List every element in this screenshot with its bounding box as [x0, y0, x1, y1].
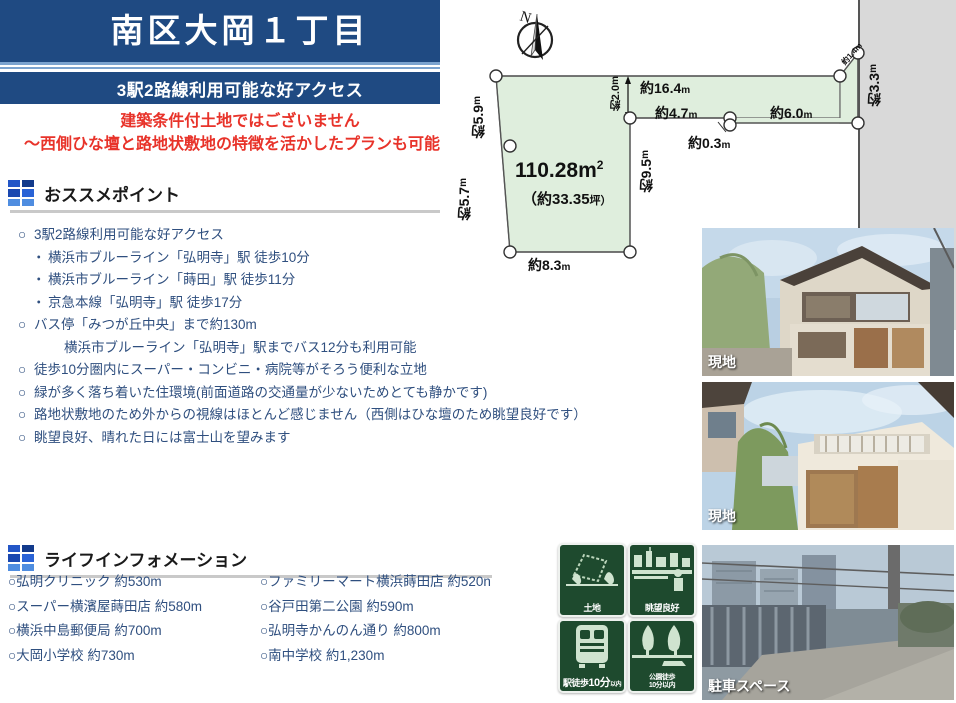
recommend-item: 横浜市ブルーライン「弘明寺」駅までバス12分も利用可能 [18, 341, 658, 355]
recommend-item: ○路地状敷地のため外からの視線はほとんど感じません（西側はひな壇のため眺望良好で… [18, 408, 658, 422]
plot-area-tsubo: （約33.35坪） [522, 188, 612, 209]
header-subtitle: 3駅2路線利用可能な好アクセス [0, 76, 480, 101]
badge-label: 土地 [560, 601, 624, 614]
dim-mid-right: 約6.0m [770, 103, 812, 123]
grid-squares-icon-2 [8, 545, 34, 571]
recommend-item-text: バス停「みつが丘中央」まで約130m [34, 317, 257, 332]
dim-right-inner: 約9.5m [636, 150, 656, 192]
view-icon [630, 545, 694, 593]
recommend-item-text: 徒歩10分圏内にスーパー・コンビニ・病院等がそろう便利な立地 [34, 362, 427, 377]
dim-notch-vertical: 約2.0m [608, 76, 624, 111]
life-section-title: ライフインフォメーション [44, 546, 247, 571]
recommend-item-text: 3駅2路線利用可能な好アクセス [34, 227, 224, 242]
bullet-marker: ・ [32, 296, 48, 310]
badge-station-walk: 駅徒歩10分以内 [558, 619, 626, 693]
photo-site-2: 現地 [702, 382, 954, 530]
train-icon [560, 621, 624, 669]
life-info-item: ○弘明クリニック 約530m [8, 575, 202, 589]
bullet-marker: ○ [18, 431, 34, 445]
dim-top-long: 約16.4m [640, 78, 690, 98]
photo-parking: 駐車スペース [702, 545, 954, 700]
badge-view: 眺望良好 [628, 543, 696, 617]
badge-land: 土地 [558, 543, 626, 617]
compass-icon: N [518, 9, 552, 60]
header-title-bar: 南区大岡１丁目 [0, 0, 480, 62]
life-info-item: ○谷戸田第二公園 約590m [260, 600, 491, 614]
page-title: 南区大岡１丁目 [0, 4, 480, 52]
notice-block: 建築条件付土地ではございません ～西側ひな壇と路地状敷地の特徴を活かしたプランも… [0, 110, 480, 156]
recommend-item-text: 京急本線「弘明寺」駅 徒歩17分 [48, 295, 242, 310]
life-info-item: ○スーパー横濱屋蒔田店 約580m [8, 600, 202, 614]
photo-site-1: 現地 [702, 228, 954, 376]
badge-label: 駅徒歩10分以内 [560, 674, 624, 690]
header-subtitle-bar: 3駅2路線利用可能な好アクセス [0, 72, 480, 104]
life-right-column: ○ファミリーマート横浜蒔田店 約520n○谷戸田第二公園 約590m○弘明寺かん… [260, 575, 491, 673]
dim-mid-left: 約4.7m [655, 103, 697, 123]
bullet-marker: ○ [18, 386, 34, 400]
recommend-item: ○緑が多く落ち着いた住環境(前面道路の交通量が少ないためとても静かです) [18, 386, 658, 400]
dim-bottom: 約8.3m [528, 255, 570, 275]
badge-label: 公園徒歩10分以内 [630, 674, 694, 690]
recommend-section-title: おススメポイント [44, 181, 180, 206]
dim-small-step: 約0.3m [688, 133, 730, 153]
dim-left-lower: 約5.7m [454, 178, 474, 220]
life-info-item: ○ファミリーマート横浜蒔田店 約520n [260, 575, 491, 589]
plot-area-sqm: 110.28m2 [515, 158, 603, 183]
bullet-marker: ・ [32, 251, 48, 265]
photo-caption: 駐車スペース [708, 676, 790, 696]
flyer-page: 南区大岡１丁目 3駅2路線利用可能な好アクセス 建築条件付土地ではございません … [0, 0, 956, 703]
photo-caption: 現地 [708, 352, 736, 372]
badge-label: 眺望良好 [630, 601, 694, 614]
bullet-marker: ○ [18, 408, 34, 422]
photo-caption: 現地 [708, 506, 736, 526]
land-plot-icon [560, 545, 624, 593]
header-stripes [0, 62, 480, 72]
dim-left-upper: 約5.9m [468, 96, 488, 138]
badge-park-walk: 公園徒歩10分以内 [628, 619, 696, 693]
recommend-item-text: 眺望良好、晴れた日には富士山を望みます [34, 430, 291, 445]
bullet-marker: ○ [18, 318, 34, 332]
recommend-item-text: 横浜市ブルーライン「蒔田」駅 徒歩11分 [48, 272, 295, 287]
life-info-item: ○弘明寺かんのん通り 約800m [260, 624, 491, 638]
notice-line-2: ～西側ひな壇と路地状敷地の特徴を活かしたプランも可能～ [0, 133, 480, 156]
recommend-item-text: 緑が多く落ち着いた住環境(前面道路の交通量が少ないためとても静かです) [34, 385, 487, 400]
bullet-marker: ・ [32, 273, 48, 287]
recommend-item-text: 横浜市ブルーライン「弘明寺」駅 徒歩10分 [48, 250, 310, 265]
grid-squares-icon [8, 180, 34, 206]
recommend-item: ○徒歩10分圏内にスーパー・コンビニ・病院等がそろう便利な立地 [18, 363, 658, 377]
recommend-item: ○眺望良好、晴れた日には富士山を望みます [18, 431, 658, 445]
bullet-marker: ○ [18, 228, 34, 242]
life-info-item: ○横浜中島郵便局 約700m [8, 624, 202, 638]
bullet-marker: ○ [18, 363, 34, 377]
dim-right-road: 約3.3m [864, 64, 884, 106]
feature-badges: 土地 眺望良好 [558, 543, 698, 693]
recommend-item-text: 路地状敷地のため外からの視線はほとんど感じません（西側はひな壇のため眺望良好です… [34, 407, 587, 422]
life-left-column: ○弘明クリニック 約530m○スーパー横濱屋蒔田店 約580m○横浜中島郵便局 … [8, 575, 202, 673]
notice-line-1: 建築条件付土地ではございません [0, 110, 480, 133]
park-tree-icon [630, 621, 694, 669]
recommend-item-text: 横浜市ブルーライン「弘明寺」駅までバス12分も利用可能 [64, 340, 417, 355]
life-info-item: ○南中学校 約1,230m [260, 649, 491, 663]
life-info-item: ○大岡小学校 約730m [8, 649, 202, 663]
